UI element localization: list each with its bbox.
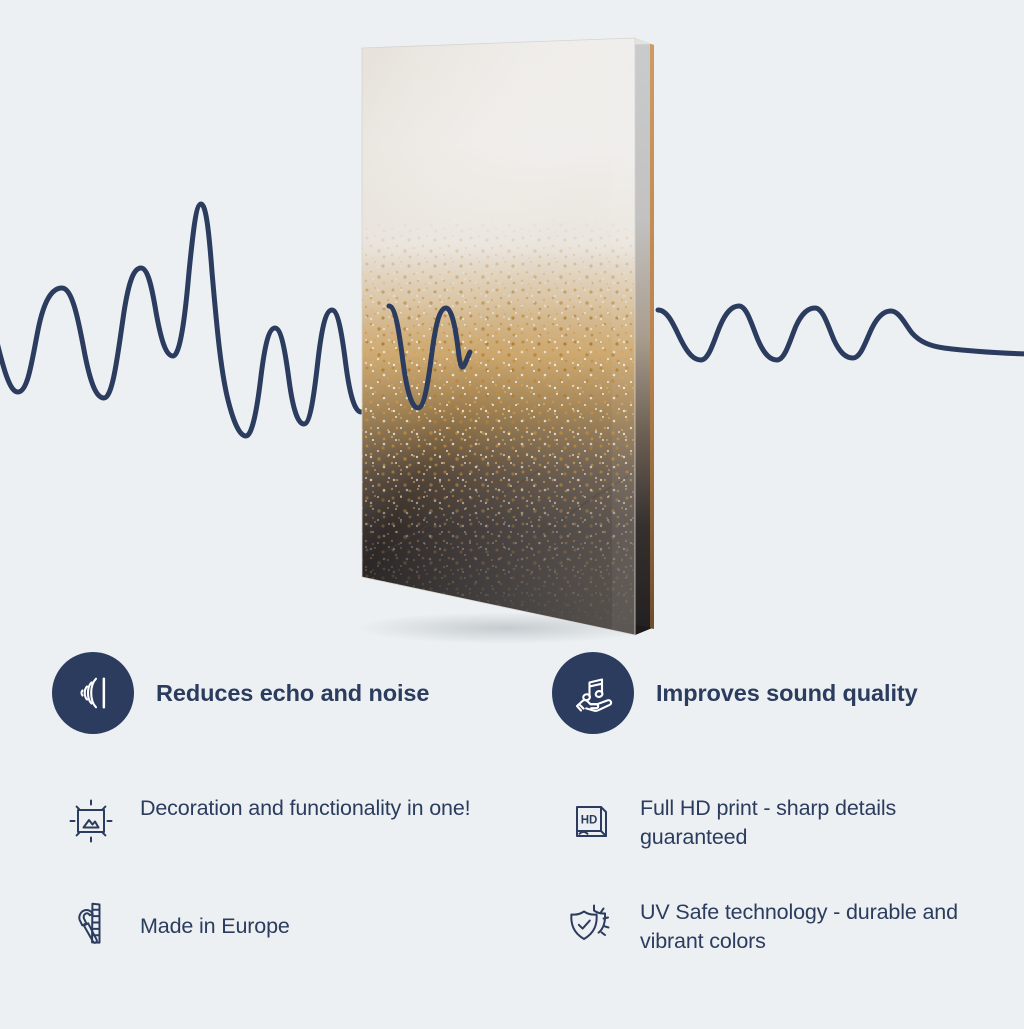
- acoustic-wall-bar: [103, 678, 106, 709]
- canvas-top-edge: [362, 38, 652, 53]
- ruler-and-hammer-icon: [64, 898, 118, 952]
- hd-label: HD: [581, 815, 598, 827]
- feature-uv-safe: UV Safe technology - durable and vibrant…: [560, 898, 1000, 956]
- highlight-badge: [552, 652, 634, 734]
- canvas-edge-trim: [650, 44, 654, 630]
- music-note-in-hand-icon: [569, 669, 617, 717]
- infographic-canvas: Reduces echo and noise Improves s: [0, 0, 1024, 1024]
- feature-made-in-europe: Made in Europe: [60, 898, 290, 956]
- feature-decoration: Decoration and functionality in one!: [60, 794, 470, 852]
- canvas-front-face: [355, 30, 655, 645]
- feature-list: Reduces echo and noise Improves s: [0, 636, 1024, 1024]
- canvas-side-edge: [635, 38, 652, 635]
- highlight-label: Reduces echo and noise: [156, 680, 429, 707]
- feature-icon-slot: [560, 894, 622, 956]
- feature-text: UV Safe technology - durable and vibrant…: [640, 898, 1000, 956]
- sound-wave-right-path: [658, 306, 1024, 360]
- canvas-face-outline: [362, 38, 635, 635]
- highlight-reduces-echo: Reduces echo and noise: [52, 652, 429, 734]
- sound-wave-absorbed-path: [389, 306, 470, 408]
- feature-text: Decoration and functionality in one!: [140, 794, 470, 823]
- highlight-improves-sound: Improves sound quality: [552, 652, 918, 734]
- uv-shield-sun-icon: [564, 898, 618, 952]
- feature-icon-slot: [60, 790, 122, 852]
- highlight-badge: [52, 652, 134, 734]
- feature-text: Made in Europe: [140, 898, 290, 941]
- sound-wave-left-path: [0, 204, 389, 436]
- sound-wave-absorption-icon: [70, 670, 116, 716]
- feature-hd-print: HD Full HD print - sharp details guarant…: [560, 794, 1000, 852]
- hd-print-icon: HD: [565, 795, 617, 847]
- feature-icon-slot: [60, 894, 122, 956]
- framed-picture-shine-icon: [64, 794, 118, 848]
- feature-icon-slot: HD: [560, 790, 622, 852]
- canvas-bottom-edge: [362, 572, 652, 635]
- highlight-label: Improves sound quality: [656, 680, 918, 707]
- feature-text: Full HD print - sharp details guaranteed: [640, 794, 1000, 852]
